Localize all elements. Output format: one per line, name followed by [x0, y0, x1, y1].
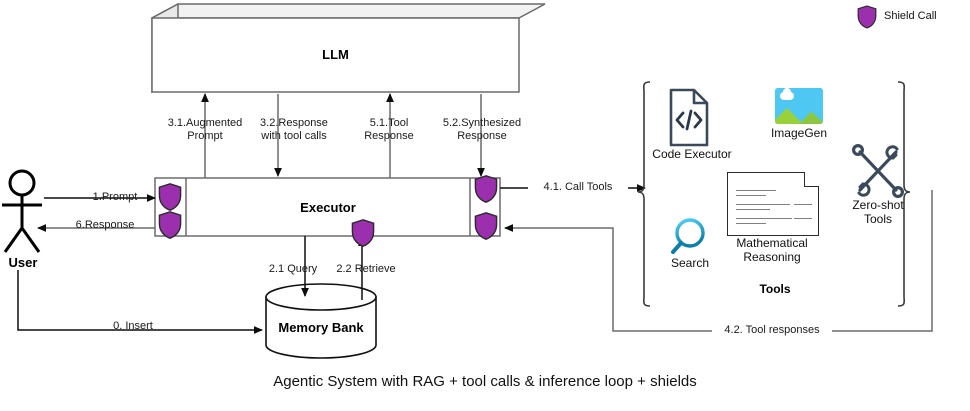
edge-label-insert: 0. Insert	[78, 320, 188, 333]
tool-label-math-reasoning: Mathematical Reasoning	[722, 236, 822, 264]
diagram-caption: Agentic System with RAG + tool calls & i…	[0, 373, 970, 390]
diagram-canvas: LLM Executor Memory Bank User 1.Prompt 6…	[0, 0, 970, 411]
legend-shield-label: Shield Call	[884, 10, 937, 22]
tool-label-zero-shot-tools: Zero-shot Tools	[838, 198, 918, 226]
edge-label-response-with-tool-calls: 3.2.Response with tool calls	[234, 117, 354, 143]
magnifier-icon	[673, 220, 703, 252]
tool-label-search: Search	[657, 256, 723, 270]
user-right-leg	[22, 228, 39, 252]
edge-label-tool-responses: 4.2. Tool responses	[712, 324, 832, 337]
shield-icon-memory-retrieve	[352, 220, 373, 246]
tools-group-label: Tools	[735, 282, 815, 296]
shield-icon-executor-out-top	[475, 176, 496, 202]
tool-label-code-executor: Code Executor	[646, 147, 738, 161]
image-icon	[775, 88, 823, 124]
crossed-wrenches-icon	[854, 146, 903, 197]
tool-label-imagegen: ImageGen	[757, 126, 841, 140]
formula-document-fold	[804, 172, 819, 187]
tools-right-brace	[898, 82, 910, 306]
user-actor	[2, 171, 42, 252]
memory-bank-label: Memory Bank	[266, 320, 376, 335]
llm-top-face	[152, 4, 545, 18]
edge-label-retrieve: 2.2 Retrieve	[326, 263, 406, 276]
shield-icon-executor-in-bottom	[159, 212, 180, 238]
shield-icon-legend	[858, 6, 876, 28]
user-left-leg	[5, 228, 22, 252]
shield-icon-executor-out-bottom	[475, 213, 496, 239]
edge-label-query: 2.1 Query	[258, 263, 328, 276]
code-document-icon	[671, 90, 707, 145]
edge-label-prompt: 1.Prompt	[65, 191, 165, 204]
formula-document-icon	[727, 172, 819, 236]
user-label: User	[0, 255, 46, 270]
user-head	[10, 171, 34, 195]
llm-label: LLM	[152, 47, 519, 62]
edge-label-response: 6.Response	[55, 219, 155, 232]
image-icon-cloud	[780, 92, 794, 100]
tools-left-brace	[638, 82, 650, 306]
memory-bank-top	[266, 284, 376, 310]
edge-label-synthesized-response: 5.2.Synthesized Response	[424, 117, 540, 143]
executor-label: Executor	[186, 200, 470, 215]
edge-label-call-tools: 4.1. Call Tools	[528, 181, 628, 194]
